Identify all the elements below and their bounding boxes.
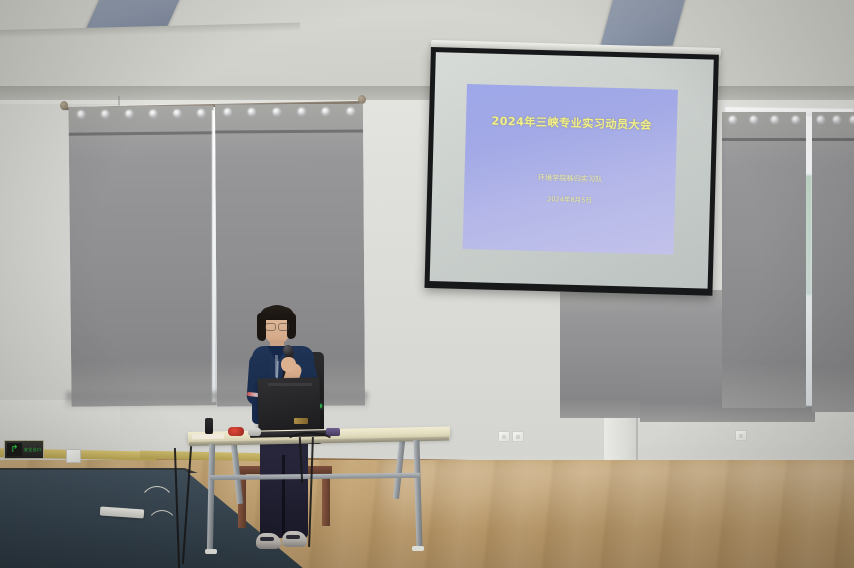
laptop-lid (258, 377, 321, 434)
window-foliage-glimpse (805, 175, 812, 295)
table-foot-right (412, 546, 424, 551)
silver-adapter (248, 428, 261, 436)
exit-running-man-icon: ↱ (7, 443, 22, 456)
projection-screen-surface: 2024年三峡专业实习动员大会 环境学院秭归实习队 2024年8月5日 (430, 52, 714, 288)
exit-sign-label: 安全出口 (22, 447, 43, 453)
curtain-rod-finial-left (60, 101, 68, 110)
presenter-shoe-right (282, 531, 307, 547)
presenter-leg-gap (282, 455, 285, 537)
red-cable-coil (228, 427, 244, 436)
curtain-panel-center-1[interactable] (560, 292, 644, 418)
wall-outlet-3[interactable] (735, 430, 747, 441)
laptop-logo-sticker (294, 418, 308, 424)
cable-loop-desk (284, 432, 336, 456)
slide-title: 2024年三峡专业实习动员大会 (466, 112, 678, 134)
floor-light-reflection (380, 462, 854, 532)
curtain-panel-right-1[interactable] (722, 112, 806, 408)
presentation-slide: 2024年三峡专业实习动员大会 环境学院秭归实习队 2024年8月5日 (463, 84, 679, 255)
microphone-head-icon (283, 345, 293, 355)
laptop-lid-reflection (268, 383, 312, 386)
projection-screen-frame: 2024年三峡专业实习动员大会 环境学院秭归实习队 2024年8月5日 (424, 47, 718, 296)
wall-outlet-2[interactable] (512, 431, 524, 442)
shoe-stripe-left (260, 537, 274, 541)
wall-light-switch[interactable] (66, 449, 81, 463)
white-power-cable-2 (146, 510, 178, 546)
slide-subtitle: 环境学院秭归实习队 (464, 171, 675, 187)
table-foot-left (205, 549, 217, 554)
emergency-exit-sign: ↱ 安全出口 (4, 440, 44, 459)
curtain-panel-left-1[interactable] (68, 105, 216, 407)
presenter-hand (281, 357, 296, 372)
presenter-glasses (265, 323, 289, 329)
presenter-shoe-left (256, 533, 281, 549)
shoe-stripe-right (286, 535, 300, 539)
lecture-hall-photo: 2024年三峡专业实习动员大会 环境学院秭归实习队 2024年8月5日 ↱ 安全… (0, 0, 854, 568)
slide-date: 2024年8月5日 (464, 191, 675, 207)
wall-outlet-1[interactable] (498, 431, 510, 442)
curtain-panel-right-2[interactable] (812, 112, 854, 412)
microphone-base (205, 418, 213, 434)
paper-sheet (192, 434, 224, 440)
